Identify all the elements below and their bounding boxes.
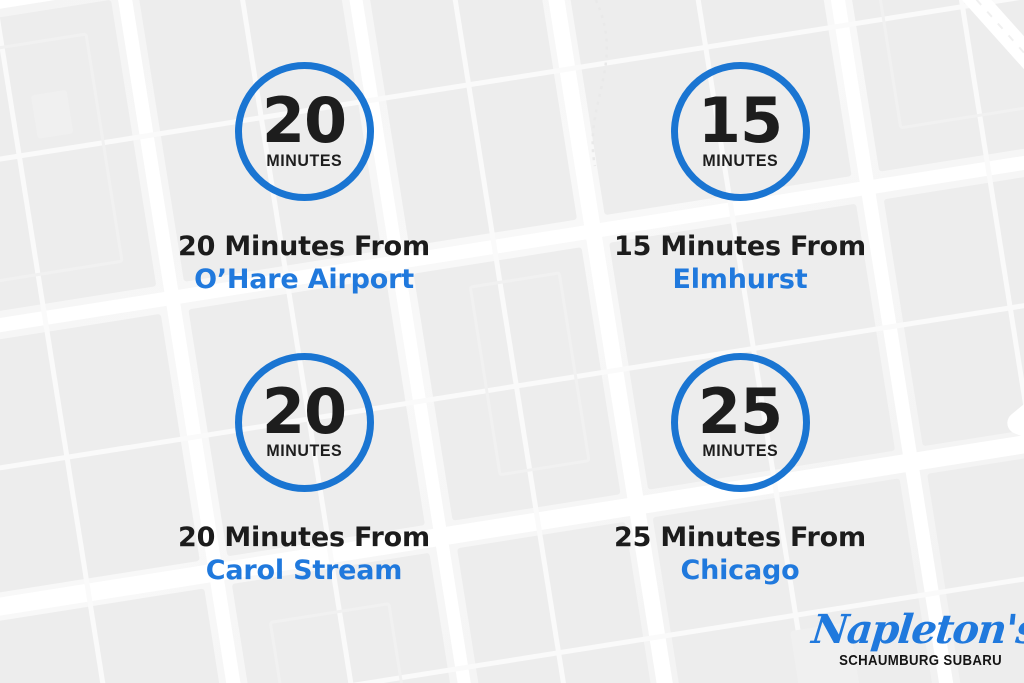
caption-location: Chicago xyxy=(614,555,866,586)
logo-wordmark: Napleton's xyxy=(810,610,1004,650)
badge-number: 20 xyxy=(262,387,346,438)
badge-unit-label: MINUTES xyxy=(266,151,342,171)
card-caption: 25 Minutes From Chicago xyxy=(614,522,866,587)
caption-location: Carol Stream xyxy=(178,555,430,586)
promo-graphic: 20 MINUTES 20 Minutes From O’Hare Airpor… xyxy=(0,0,1024,683)
drive-time-grid: 20 MINUTES 20 Minutes From O’Hare Airpor… xyxy=(0,0,1024,683)
minutes-badge-circle: 15 MINUTES xyxy=(671,62,810,201)
caption-location: Elmhurst xyxy=(614,264,866,295)
badge-number: 25 xyxy=(698,387,782,438)
drive-time-card: 25 MINUTES 25 Minutes From Chicago xyxy=(512,353,962,644)
caption-primary: 20 Minutes From xyxy=(178,231,430,262)
badge-unit-label: MINUTES xyxy=(702,151,778,171)
caption-location: O’Hare Airport xyxy=(178,264,430,295)
caption-primary: 20 Minutes From xyxy=(178,522,430,553)
badge-number: 15 xyxy=(698,96,782,147)
badge-unit-label: MINUTES xyxy=(702,441,778,461)
caption-primary: 15 Minutes From xyxy=(614,231,866,262)
dealer-logo: Napleton's SCHAUMBURG SUBARU xyxy=(812,610,1002,669)
minutes-badge-circle: 25 MINUTES xyxy=(671,353,810,492)
minutes-badge-circle: 20 MINUTES xyxy=(235,62,374,201)
badge-unit-label: MINUTES xyxy=(266,441,342,461)
card-caption: 20 Minutes From O’Hare Airport xyxy=(178,231,430,296)
drive-time-card: 20 MINUTES 20 Minutes From Carol Stream xyxy=(62,353,512,644)
drive-time-card: 15 MINUTES 15 Minutes From Elmhurst xyxy=(512,62,962,353)
card-caption: 15 Minutes From Elmhurst xyxy=(614,231,866,296)
minutes-badge-circle: 20 MINUTES xyxy=(235,353,374,492)
caption-primary: 25 Minutes From xyxy=(614,522,866,553)
card-caption: 20 Minutes From Carol Stream xyxy=(178,522,430,587)
drive-time-card: 20 MINUTES 20 Minutes From O’Hare Airpor… xyxy=(62,62,512,353)
badge-number: 20 xyxy=(262,96,346,147)
logo-subtitle: SCHAUMBURG SUBARU xyxy=(835,652,1002,669)
